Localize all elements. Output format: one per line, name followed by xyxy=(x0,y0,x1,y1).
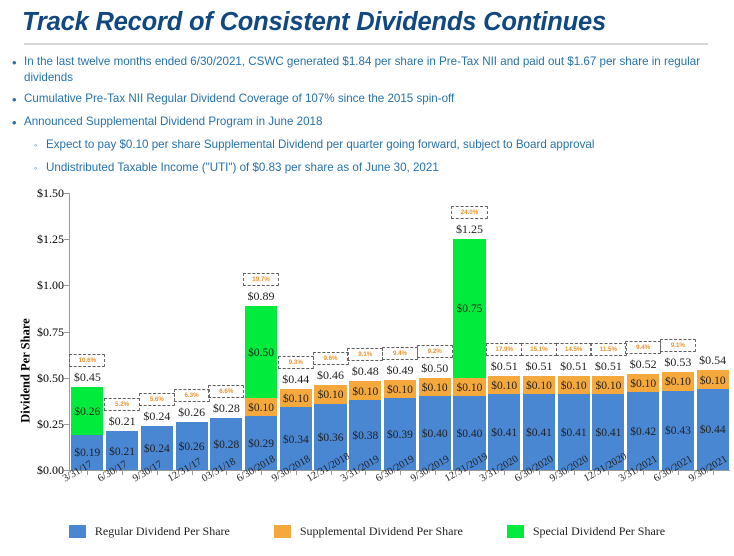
segment-value-label: $0.21 xyxy=(109,446,135,458)
bullet-marker-icon: • xyxy=(12,114,24,131)
yield-callout-badge: 5.2% xyxy=(104,398,140,411)
bar-column[interactable]: $0.26$0.266.3% xyxy=(176,193,208,470)
bar-column[interactable]: $0.41$0.10$0.5114.5% xyxy=(558,193,590,470)
bullet-list: •In the last twelve months ended 6/30/20… xyxy=(8,54,730,178)
segment-value-label: $0.10 xyxy=(422,382,448,394)
segment-value-label: $0.26 xyxy=(74,406,100,418)
bar-column[interactable]: $0.38$0.10$0.489.1% xyxy=(349,193,381,470)
segment-value-label: $0.26 xyxy=(179,441,205,453)
segment-value-label: $0.10 xyxy=(630,378,656,390)
bar-total-label: $0.51 xyxy=(595,359,622,374)
bullet-item: •Announced Supplemental Dividend Program… xyxy=(8,114,730,131)
bar-total-label: $0.24 xyxy=(143,409,170,424)
bullet-marker-icon: • xyxy=(12,54,24,71)
bar-total-label: $0.46 xyxy=(317,368,344,383)
segment-value-label: $0.10 xyxy=(491,380,517,392)
segment-value-label: $0.10 xyxy=(352,386,378,398)
bar-column[interactable]: $0.44$0.10$0.54 xyxy=(697,193,729,470)
legend-swatch xyxy=(507,525,524,538)
segment-value-label: $0.19 xyxy=(74,447,100,459)
chart-legend: Regular Dividend Per ShareSupplemental D… xyxy=(0,524,734,539)
title-divider xyxy=(24,43,708,45)
segment-value-label: $0.10 xyxy=(318,389,344,401)
segment-value-label: $0.40 xyxy=(422,428,448,440)
yield-callout-badge: 6.6% xyxy=(208,385,244,398)
bar-total-label: $0.28 xyxy=(213,401,240,416)
segment-value-label: $0.41 xyxy=(595,427,621,439)
bar-total-label: $0.44 xyxy=(282,372,309,387)
bullet-text: In the last twelve months ended 6/30/202… xyxy=(24,54,714,85)
segment-value-label: $0.34 xyxy=(283,434,309,446)
bar-column[interactable]: $0.36$0.10$0.469.6% xyxy=(314,193,346,470)
legend-label: Regular Dividend Per Share xyxy=(95,524,230,539)
y-axis-ticks: $0.00$0.25$0.50$0.75$1.00$1.25$1.50 xyxy=(0,193,64,470)
y-tick-label: $0.50 xyxy=(10,371,64,386)
legend-label: Supplemental Dividend Per Share xyxy=(300,524,463,539)
bar-column[interactable]: $0.24$0.245.6% xyxy=(141,193,173,470)
segment-value-label: $0.29 xyxy=(248,438,274,450)
segment-value-label: $0.10 xyxy=(283,393,309,405)
bar-column[interactable]: $0.41$0.10$0.5115.1% xyxy=(523,193,555,470)
bullet-item: •In the last twelve months ended 6/30/20… xyxy=(8,54,730,85)
segment-value-label: $0.10 xyxy=(700,375,726,387)
bullet-item: •Cumulative Pre-Tax NII Regular Dividend… xyxy=(8,91,730,108)
bullet-marker-icon: • xyxy=(12,91,24,108)
segment-value-label: $0.10 xyxy=(248,402,274,414)
legend-item[interactable]: Supplemental Dividend Per Share xyxy=(274,524,463,539)
bar-column[interactable]: $0.40$0.10$0.509.2% xyxy=(419,193,451,470)
bar-total-label: $0.51 xyxy=(560,359,587,374)
yield-callout-badge: 11.5% xyxy=(590,343,626,356)
bar-column[interactable]: $0.39$0.10$0.499.4% xyxy=(384,193,416,470)
segment-value-label: $0.75 xyxy=(457,303,483,315)
yield-callout-badge: 9.6% xyxy=(312,352,348,365)
legend-item[interactable]: Regular Dividend Per Share xyxy=(69,524,230,539)
yield-callout-badge: 10.6% xyxy=(69,354,105,367)
yield-callout-badge: 17.9% xyxy=(486,343,522,356)
yield-callout-badge: 9.4% xyxy=(382,347,418,360)
segment-value-label: $0.41 xyxy=(526,427,552,439)
segment-value-label: $0.41 xyxy=(561,427,587,439)
yield-callout-badge: 6.3% xyxy=(174,389,210,402)
bullet-item: ◦Expect to pay $0.10 per share Supplemen… xyxy=(8,137,730,154)
y-tick-label: $0.25 xyxy=(10,417,64,432)
segment-value-label: $0.40 xyxy=(457,428,483,440)
bar-total-label: $0.48 xyxy=(352,364,379,379)
y-tick-label: $0.75 xyxy=(10,325,64,340)
segment-value-label: $0.10 xyxy=(665,376,691,388)
segment-value-label: $0.39 xyxy=(387,429,413,441)
bar-column[interactable]: $0.43$0.10$0.539.1% xyxy=(662,193,694,470)
bar-total-label: $0.26 xyxy=(178,405,205,420)
bar-total-label: $0.51 xyxy=(525,359,552,374)
bar-column[interactable]: $0.42$0.10$0.529.4% xyxy=(627,193,659,470)
bullet-item: ◦Undistributed Taxable Income ("UTI") of… xyxy=(8,160,730,177)
legend-swatch xyxy=(274,525,291,538)
bullet-text: Cumulative Pre-Tax NII Regular Dividend … xyxy=(24,91,454,107)
yield-callout-badge: 5.6% xyxy=(139,393,175,406)
bullet-text: Undistributed Taxable Income ("UTI") of … xyxy=(46,160,439,176)
page-title: Track Record of Consistent Dividends Con… xyxy=(22,8,712,37)
bullet-text: Expect to pay $0.10 per share Supplement… xyxy=(46,137,594,153)
yield-callout-badge: 9.2% xyxy=(417,345,453,358)
bar-total-label: $0.54 xyxy=(699,353,726,368)
yield-callout-badge: 9.1% xyxy=(660,339,696,352)
segment-value-label: $0.42 xyxy=(630,426,656,438)
bar-column[interactable]: $0.40$0.10$0.75$1.2524.0% xyxy=(453,193,485,470)
dividend-chart: Dividend Per Share $0.00$0.25$0.50$0.75$… xyxy=(0,193,734,556)
legend-label: Special Dividend Per Share xyxy=(533,524,665,539)
y-tick-label: $0.00 xyxy=(10,463,64,478)
bullet-marker-icon: ◦ xyxy=(34,160,46,177)
segment-value-label: $0.50 xyxy=(248,347,274,359)
yield-callout-badge: 24.0% xyxy=(451,206,487,219)
segment-value-label: $0.38 xyxy=(352,430,378,442)
segment-value-label: $0.10 xyxy=(526,380,552,392)
yield-callout-badge: 9.4% xyxy=(625,341,661,354)
segment-value-label: $0.24 xyxy=(144,443,170,455)
bar-column[interactable]: $0.41$0.10$0.5117.9% xyxy=(488,193,520,470)
bar-total-label: $0.50 xyxy=(421,361,448,376)
yield-callout-badge: 15.1% xyxy=(521,343,557,356)
y-tick-label: $1.50 xyxy=(10,186,64,201)
yield-callout-badge: 14.5% xyxy=(556,343,592,356)
bar-total-label: $0.21 xyxy=(109,414,136,429)
bar-total-label: $0.49 xyxy=(386,363,413,378)
bar-column[interactable]: $0.28$0.286.6% xyxy=(210,193,242,470)
bar-total-label: $1.25 xyxy=(456,222,483,237)
bar-column[interactable]: $0.21$0.215.2% xyxy=(106,193,138,470)
bullet-text: Announced Supplemental Dividend Program … xyxy=(24,114,322,130)
y-tick-label: $1.25 xyxy=(10,232,64,247)
segment-value-label: $0.36 xyxy=(318,432,344,444)
plot-area: $0.19$0.26$0.4510.6%3/31/17$0.21$0.215.2… xyxy=(70,193,730,470)
segment-value-label: $0.10 xyxy=(561,380,587,392)
bar-column[interactable]: $0.34$0.10$0.449.3% xyxy=(280,193,312,470)
segment-value-label: $0.10 xyxy=(595,380,621,392)
slide: Track Record of Consistent Dividends Con… xyxy=(0,0,734,556)
bar-column[interactable]: $0.29$0.10$0.50$0.8919.7% xyxy=(245,193,277,470)
legend-item[interactable]: Special Dividend Per Share xyxy=(507,524,665,539)
segment-value-label: $0.10 xyxy=(387,384,413,396)
bar-total-label: $0.51 xyxy=(491,359,518,374)
segment-value-label: $0.10 xyxy=(457,382,483,394)
legend-swatch xyxy=(69,525,86,538)
yield-callout-badge: 19.7% xyxy=(243,273,279,286)
bar-total-label: $0.53 xyxy=(664,355,691,370)
segment-value-label: $0.44 xyxy=(700,424,726,436)
bar-total-label: $0.45 xyxy=(74,370,101,385)
y-tick-label: $1.00 xyxy=(10,278,64,293)
yield-callout-badge: 9.3% xyxy=(278,356,314,369)
segment-value-label: $0.28 xyxy=(213,439,239,451)
yield-callout-badge: 9.1% xyxy=(347,348,383,361)
segment-value-label: $0.43 xyxy=(665,425,691,437)
bar-column[interactable]: $0.19$0.26$0.4510.6% xyxy=(71,193,103,470)
bullet-marker-icon: ◦ xyxy=(34,137,46,154)
bar-total-label: $0.89 xyxy=(248,289,275,304)
bar-column[interactable]: $0.41$0.10$0.5111.5% xyxy=(592,193,624,470)
segment-value-label: $0.41 xyxy=(491,427,517,439)
bar-total-label: $0.52 xyxy=(630,357,657,372)
